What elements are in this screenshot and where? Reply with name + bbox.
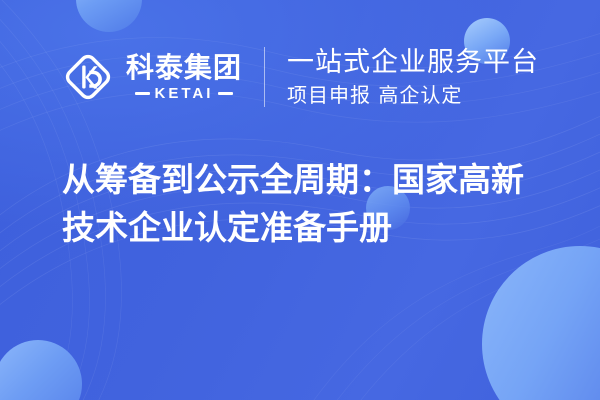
ketai-diamond-kd-logo-icon bbox=[61, 50, 115, 104]
tagline-block: 一站式企业服务平台 项目申报 高企认定 bbox=[287, 47, 539, 106]
banner-header: 科泰集团 KETAI 一站式企业服务平台 项目申报 高企认定 bbox=[0, 38, 600, 116]
brand-name-cn: 科泰集团 bbox=[126, 53, 242, 83]
tagline-sub: 项目申报 高企认定 bbox=[287, 83, 539, 107]
brand-lockup: 科泰集团 KETAI bbox=[61, 50, 242, 104]
brand-rule-left-icon bbox=[135, 92, 150, 95]
brand-name-en-row: KETAI bbox=[135, 86, 234, 101]
header-divider bbox=[264, 47, 265, 107]
brand-wordmark: 科泰集团 KETAI bbox=[126, 53, 242, 101]
brand-rule-right-icon bbox=[218, 92, 233, 95]
tagline-main: 一站式企业服务平台 bbox=[287, 47, 539, 78]
page-title: 从筹备到公示全周期：国家高新技术企业认定准备手册 bbox=[62, 156, 554, 252]
promo-banner: 科泰集团 KETAI 一站式企业服务平台 项目申报 高企认定 从筹备到公示全周期… bbox=[0, 0, 600, 400]
main-title-block: 从筹备到公示全周期：国家高新技术企业认定准备手册 bbox=[62, 156, 554, 252]
brand-name-en: KETAI bbox=[155, 86, 214, 101]
